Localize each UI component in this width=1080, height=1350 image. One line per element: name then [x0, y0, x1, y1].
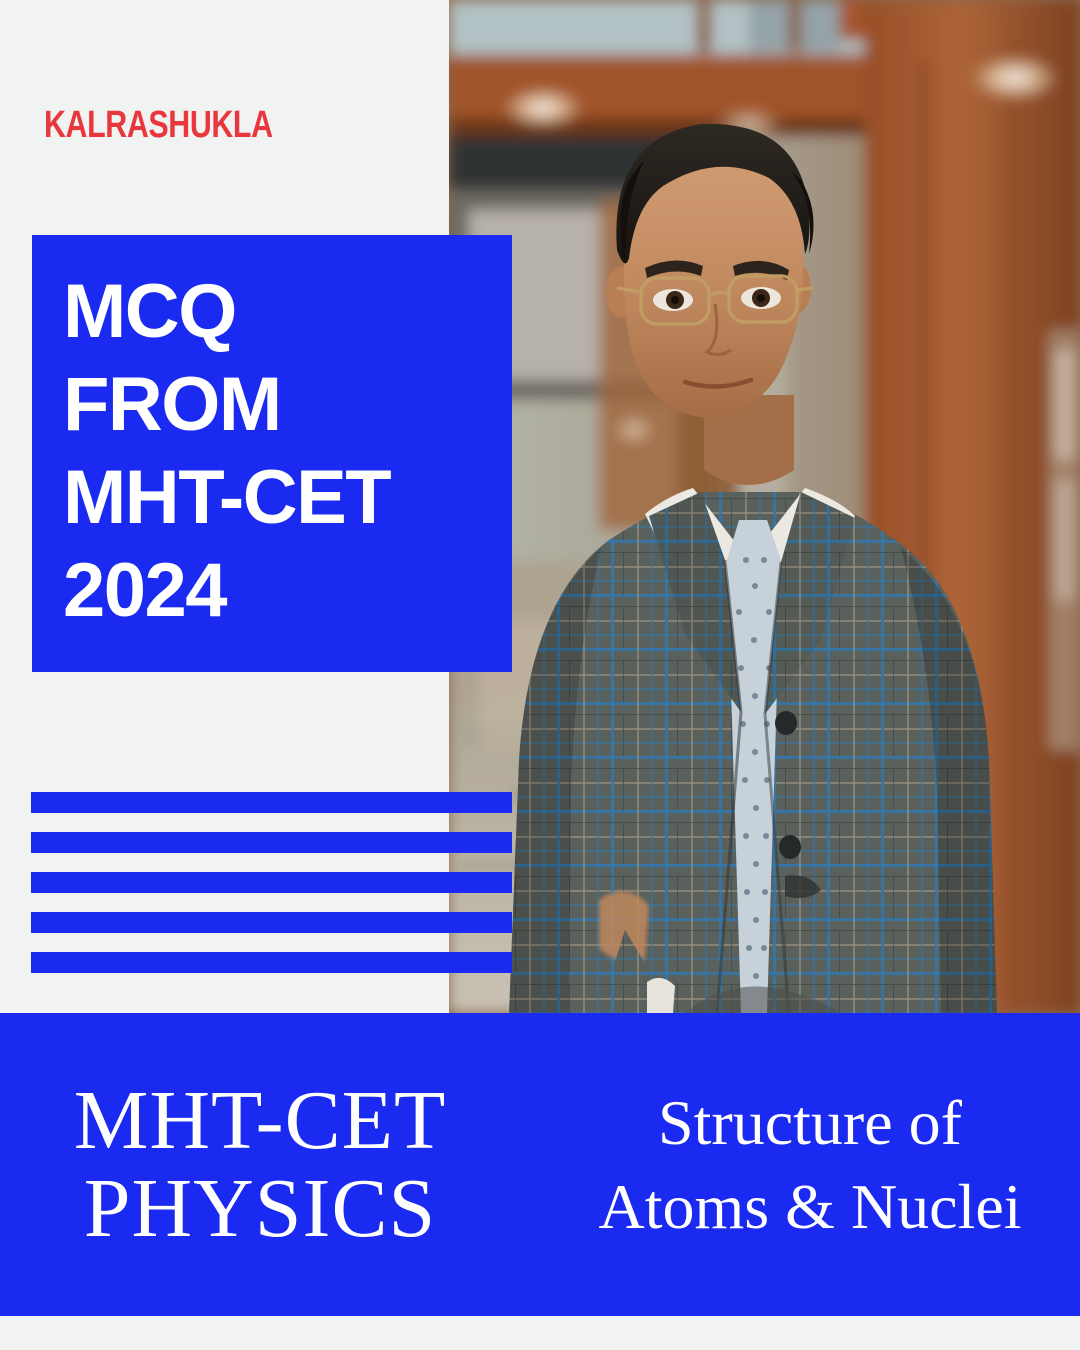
headline-line-2: FROM: [63, 358, 512, 451]
decorative-bar: [31, 952, 512, 973]
decorative-bar: [31, 832, 512, 853]
photo-artwork: [449, 0, 1080, 1013]
bottom-strip: [0, 1316, 1080, 1350]
poster-canvas: KALRASHUKLA MCQ FROM MHT-CET 2024 MHT-CE…: [0, 0, 1080, 1350]
decorative-bar-group: [31, 792, 512, 973]
topic-line-1: Structure of: [658, 1081, 962, 1165]
topic-line-2: Atoms & Nuclei: [598, 1165, 1021, 1249]
subject-title: MHT-CET PHYSICS: [0, 1013, 520, 1316]
subject-line-1: MHT-CET: [74, 1077, 447, 1165]
headline-line-1: MCQ: [63, 265, 512, 358]
kalrashukla-logo: KALRASHUKLA: [44, 106, 273, 144]
headline-box: MCQ FROM MHT-CET 2024: [32, 235, 512, 672]
headline-line-3: MHT-CET: [63, 451, 512, 544]
topic-title: Structure of Atoms & Nuclei: [540, 1013, 1080, 1316]
instructor-photo: [449, 0, 1080, 1013]
decorative-bar: [31, 792, 512, 813]
decorative-bar: [31, 912, 512, 933]
bottom-banner: MHT-CET PHYSICS Structure of Atoms & Nuc…: [0, 1013, 1080, 1316]
subject-line-2: PHYSICS: [84, 1165, 436, 1253]
decorative-bar: [31, 872, 512, 893]
headline-line-4: 2024: [63, 544, 512, 637]
